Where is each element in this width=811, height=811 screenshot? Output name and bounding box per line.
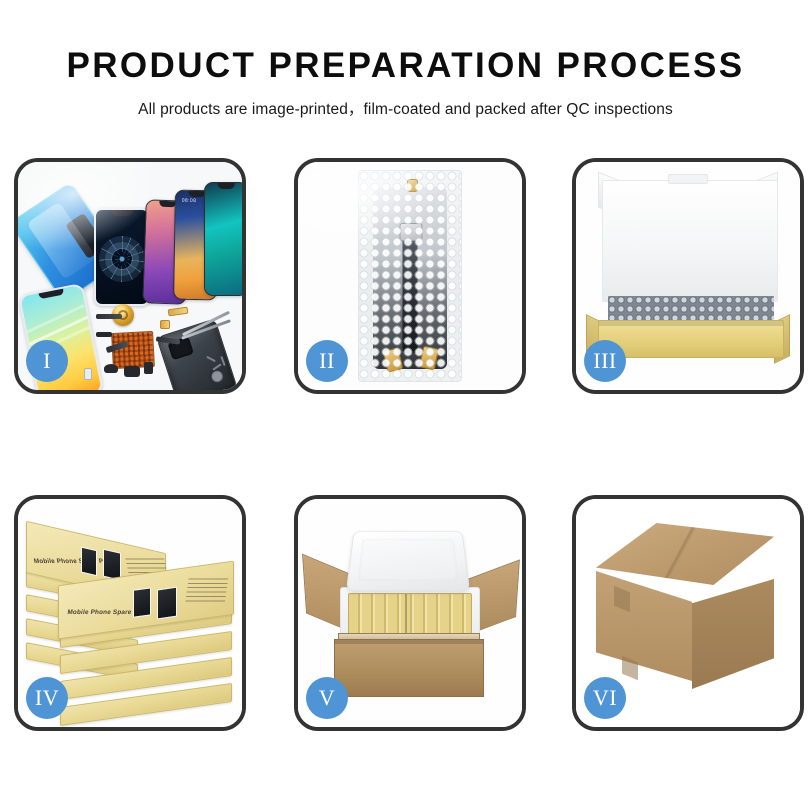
phone-notch: [188, 191, 205, 197]
step-badge-6: VI: [584, 677, 626, 719]
phone-teal: [204, 182, 246, 296]
sim-tray-part: [84, 368, 92, 380]
phone-notch: [39, 289, 64, 300]
small-part: [144, 362, 153, 374]
step-panel-1[interactable]: 08:08: [14, 158, 246, 394]
bubble-wrap-bag: [358, 170, 462, 382]
gold-connector-part: [160, 320, 170, 329]
crack-pattern: [99, 236, 145, 282]
speaker-part: [104, 364, 118, 373]
step-badge-4: IV: [26, 677, 68, 719]
gold-boxes-inside: [348, 593, 472, 637]
box-screen-image: [81, 547, 97, 577]
box-spec-text: [185, 575, 228, 601]
process-step-grid: 08:08: [0, 0, 811, 811]
phone-notch: [159, 201, 176, 208]
box-white-back-panel: [602, 180, 778, 302]
box-lid-tab: [668, 174, 708, 184]
screws-cluster: [206, 356, 232, 378]
step-badge-1: I: [26, 340, 68, 382]
carton-front-wall: [334, 639, 484, 697]
phone-notch: [112, 210, 133, 216]
flex-cable-part: [96, 314, 122, 319]
phone-notch: [218, 183, 235, 189]
box-screen-image: [157, 587, 177, 620]
bubble-wrap-layer: [608, 296, 774, 322]
product-preparation-poster: PRODUCT PREPARATION PROCESS All products…: [0, 0, 811, 811]
step-badge-5: V: [306, 677, 348, 719]
phone-status-time: 08:08: [182, 198, 197, 204]
tweezers-tool: [180, 312, 236, 352]
step-panel-4[interactable]: Mobile Phone Spare Parts Mobile Phone Sp…: [14, 495, 246, 731]
step-badge-3: III: [584, 340, 626, 382]
bubble-texture: [359, 171, 461, 381]
step-badge-2: II: [306, 340, 348, 382]
box-kraft-front: [598, 320, 784, 358]
box-screen-image: [133, 587, 151, 618]
step-panel-3[interactable]: III Bubble wrapped part placed in white …: [572, 158, 804, 394]
step-panel-2[interactable]: II Screen assembly sealed in bubble wrap: [294, 158, 526, 394]
foam-lid: [346, 531, 470, 591]
camera-module-part: [124, 366, 140, 377]
flex-cable-part: [96, 332, 112, 337]
step-panel-5[interactable]: V Boxes loaded into foam-lined shipping …: [294, 495, 526, 731]
step-panel-6[interactable]: VI Sealed brown shipping carton ready to…: [572, 495, 804, 731]
